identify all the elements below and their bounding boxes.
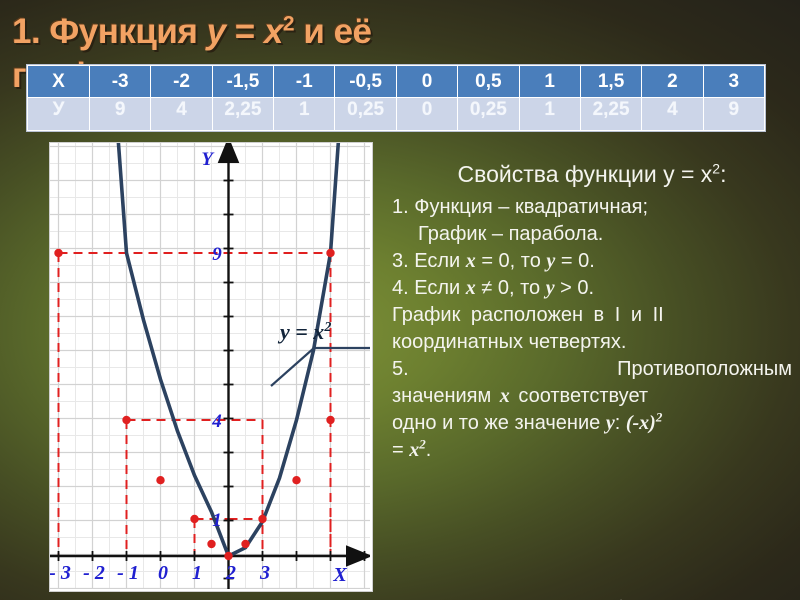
property-5-expr: (-x) <box>626 412 656 434</box>
title-equals: = <box>226 12 264 51</box>
table-cell-x-2: -1,5 <box>212 66 273 98</box>
chart-grid-minor <box>50 143 370 589</box>
table-cell-y-1: 4 <box>151 98 212 131</box>
table-cell-y-9: 4 <box>642 98 703 131</box>
property-cut-line: Говорят, что ветви параболы <box>392 596 792 600</box>
property-5-period: . <box>426 439 432 461</box>
table-cell-x-3: -1 <box>274 66 335 98</box>
slide-canvas: 1. Функция y = x2 и её график <box>0 0 800 600</box>
table-cell-y-4: 0,25 <box>335 98 396 131</box>
title-var-y: y <box>207 12 226 51</box>
svg-text:2: 2 <box>225 562 236 584</box>
table-cell-x-5: 0 <box>396 66 457 98</box>
property-3-b: = 0, то <box>476 250 547 272</box>
chart-y-tick-labels: 9 4 1 <box>211 244 222 531</box>
property-5-expr-superscript: 2 <box>656 409 663 424</box>
properties-heading-var: x <box>701 161 713 187</box>
property-item-5-line4: = x2. <box>392 437 792 464</box>
property-item-5-line1: 5. Противоположным <box>392 356 792 383</box>
property-5-eq: = <box>392 439 409 461</box>
table-cell-x-9: 2 <box>642 66 703 98</box>
property-3-var-y: y <box>546 250 555 272</box>
property-3-c: = 0. <box>555 250 594 272</box>
property-5-num: 5. <box>392 356 409 383</box>
property-quadrants-line2: координатных четвертях. <box>392 329 792 356</box>
parabola-chart: - 3 - 2 - 1 0 1 2 3 9 4 1 Y X y = x <box>50 143 370 589</box>
title-superscript: 2 <box>283 12 294 35</box>
table-row-x: X -3 -2 -1,5 -1 -0,5 0 0,5 1 1,5 2 3 <box>28 66 765 98</box>
table-cell-y-6: 0,25 <box>458 98 519 131</box>
property-item-1: 1. Функция – квадратичная; <box>392 194 792 220</box>
svg-text:3: 3 <box>259 562 270 584</box>
property-5-c: одно и то же значение <box>392 412 606 434</box>
property-item-3: 3. Если x = 0, то y = 0. <box>392 248 792 274</box>
property-1-num: 1. <box>392 196 409 218</box>
table-header-y: У <box>28 98 90 131</box>
properties-list: 1. Функция – квадратичная; График – пара… <box>392 194 792 301</box>
table-cell-y-8: 2,25 <box>580 98 641 131</box>
table-cell-y-0: 9 <box>90 98 151 131</box>
properties-heading-superscript: 2 <box>712 160 720 176</box>
property-item-5-line2: значениям x соответствует <box>392 383 792 410</box>
table-cell-x-6: 0,5 <box>458 66 519 98</box>
table-cell-x-7: 1 <box>519 66 580 98</box>
svg-text:1: 1 <box>212 510 222 531</box>
property-1-text: Функция – квадратичная; <box>414 196 648 218</box>
svg-text:1: 1 <box>192 562 202 584</box>
x-axis-label: X <box>332 564 347 586</box>
properties-heading-suffix: : <box>720 161 726 187</box>
property-item-1b: График – парабола. <box>392 221 792 247</box>
property-5-a: значениям <box>392 385 500 407</box>
y-axis-label: Y <box>201 149 215 170</box>
property-item-5-line3: одно и то же значение y: (-x)2 <box>392 410 792 437</box>
property-5-result-x: x <box>409 439 419 461</box>
title-var-x: x <box>264 12 283 51</box>
title-prefix: 1. Функция <box>12 12 207 51</box>
chart-axes <box>50 163 346 589</box>
property-3-num: 3. <box>392 250 409 272</box>
property-4-var-y: y <box>546 277 555 299</box>
values-table: X -3 -2 -1,5 -1 -0,5 0 0,5 1 1,5 2 3 У 9… <box>27 65 765 131</box>
svg-text:4: 4 <box>211 411 222 432</box>
table-cell-y-2: 2,25 <box>212 98 273 131</box>
property-3-a: Если <box>414 250 466 272</box>
chart-grid-major <box>50 143 370 589</box>
svg-text:9: 9 <box>212 244 222 265</box>
table-cell-y-5: 0 <box>396 98 457 131</box>
table-cell-y-7: 1 <box>519 98 580 131</box>
table-cell-x-10: 3 <box>703 66 764 98</box>
table-cell-y-3: 1 <box>274 98 335 131</box>
properties-heading: Свойства функции y = x2: <box>392 160 792 188</box>
property-5-b: соответствует <box>510 385 648 407</box>
properties-panel: Свойства функции y = x2: 1. Функция – кв… <box>392 160 792 600</box>
table-cell-x-1: -2 <box>151 66 212 98</box>
property-4-num: 4. <box>392 277 409 299</box>
curve-equation-label: y = x2 <box>277 319 331 344</box>
table-cell-y-10: 9 <box>703 98 764 131</box>
svg-text:- 1: - 1 <box>117 562 139 584</box>
table-row-y: У 9 4 2,25 1 0,25 0 0,25 1 2,25 4 9 <box>28 98 765 131</box>
property-4-c: > 0. <box>555 277 594 299</box>
property-4-var-x: x <box>466 277 476 299</box>
property-5-text: Противоположным <box>617 356 792 383</box>
graph-panel: - 3 - 2 - 1 0 1 2 3 9 4 1 Y X y = x <box>49 142 373 592</box>
property-5-var-y: y <box>606 412 615 434</box>
property-4-a: Если <box>414 277 466 299</box>
chart-x-tick-labels: - 3 - 2 - 1 0 1 2 3 <box>50 562 270 584</box>
table-cell-x-0: -3 <box>90 66 151 98</box>
property-5-colon: : <box>615 412 626 434</box>
property-3-var-x: x <box>466 250 476 272</box>
property-quadrants-line1: График расположен в I и II <box>392 302 792 329</box>
properties-heading-prefix: Свойства функции y = <box>458 161 701 187</box>
table-header-x: X <box>28 66 90 98</box>
title-suffix: и её <box>294 12 371 51</box>
table-cell-x-8: 1,5 <box>580 66 641 98</box>
svg-text:- 2: - 2 <box>83 562 105 584</box>
svg-text:0: 0 <box>158 562 168 584</box>
property-item-4: 4. Если x ≠ 0, то y > 0. <box>392 275 792 301</box>
property-1b-text: График – парабола. <box>418 223 603 245</box>
property-5-var-x: x <box>500 385 510 407</box>
property-4-b: ≠ 0, то <box>476 277 546 299</box>
svg-text:- 3: - 3 <box>50 562 71 584</box>
table-cell-x-4: -0,5 <box>335 66 396 98</box>
